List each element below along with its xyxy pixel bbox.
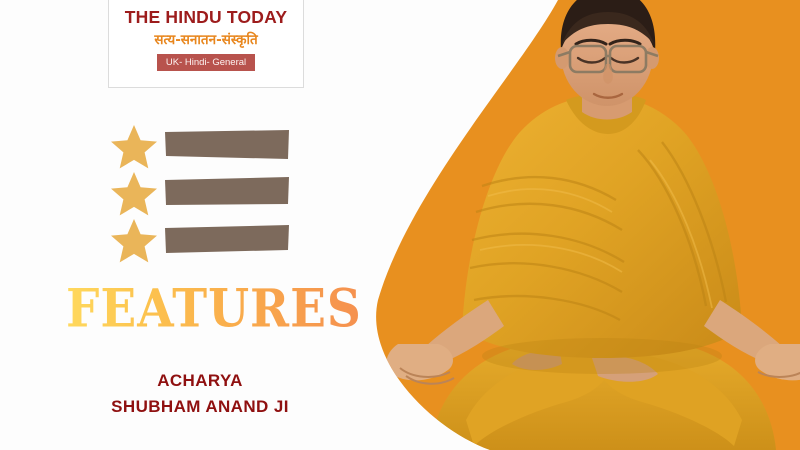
logo-subtitle: सत्य-सनातन-संस्कृति — [154, 34, 257, 48]
star-bullet-list — [110, 124, 290, 265]
portrait-art-zone — [370, 0, 800, 450]
placeholder-bar — [164, 129, 290, 161]
list-item — [110, 124, 290, 171]
star-icon — [110, 171, 158, 217]
star-icon — [110, 124, 158, 170]
list-item — [110, 171, 290, 218]
person-name-line1: ACHARYA — [20, 368, 380, 394]
meditating-person-illustration — [370, 0, 800, 450]
placeholder-bar — [164, 223, 290, 255]
list-item — [110, 218, 290, 265]
person-name: ACHARYA SHUBHAM ANAND JI — [20, 368, 380, 421]
star-icon — [110, 218, 158, 264]
poster-canvas: THE HINDU TODAY सत्य-सनातन-संस्कृति UK- … — [0, 0, 800, 450]
page-title: FEATURES — [66, 283, 362, 336]
logo-category-badge: UK- Hindi- General — [157, 54, 255, 71]
logo-card: THE HINDU TODAY सत्य-सनातन-संस्कृति UK- … — [108, 0, 304, 88]
logo-title: THE HINDU TODAY — [125, 9, 287, 27]
placeholder-bar — [164, 176, 290, 208]
person-name-line2: SHUBHAM ANAND JI — [20, 394, 380, 420]
